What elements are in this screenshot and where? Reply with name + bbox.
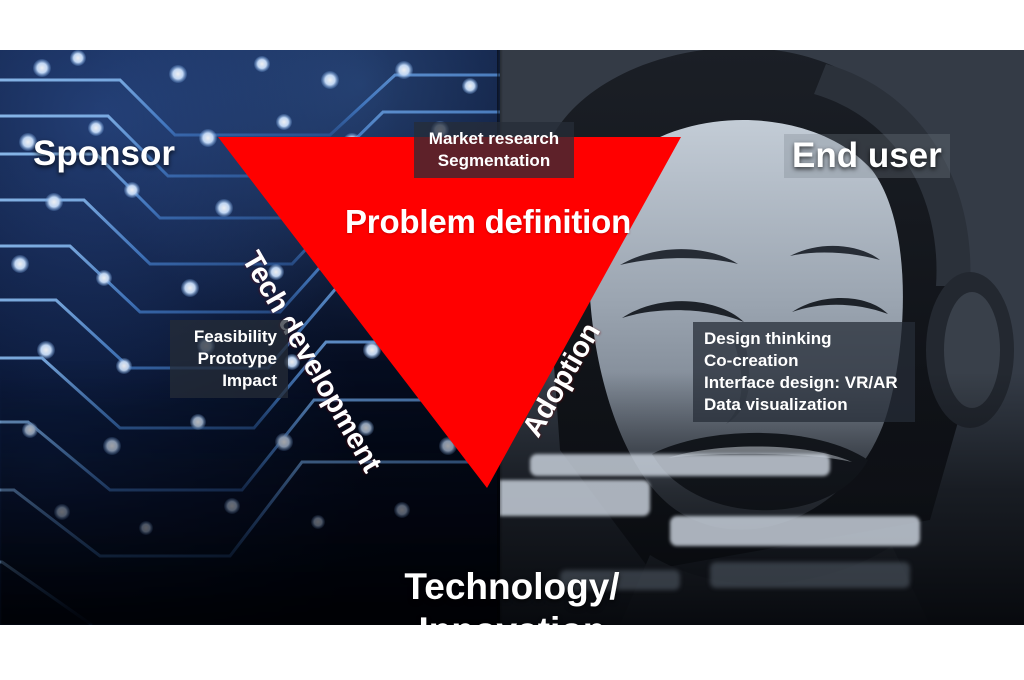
note-enduser-line-1: Design thinking xyxy=(704,328,904,350)
letterbox-top xyxy=(0,0,1024,50)
technology-line-1: Technology/ xyxy=(0,565,1024,609)
note-sponsor-line-2: Prototype xyxy=(181,348,277,370)
note-sponsor-side: Feasibility Prototype Impact xyxy=(170,320,288,398)
device-highlight-3 xyxy=(670,516,920,546)
note-enduser-line-4: Data visualization xyxy=(704,394,904,416)
technology-line-2: Innovation xyxy=(0,609,1024,625)
note-market-line-1: Market research xyxy=(425,128,563,150)
note-end-user-side: Design thinking Co-creation Interface de… xyxy=(693,322,915,422)
note-enduser-line-3: Interface design: VR/AR xyxy=(704,372,904,394)
note-market-line-2: Segmentation xyxy=(425,150,563,172)
corner-title-technology-innovation: Technology/ Innovation xyxy=(0,565,1024,625)
note-sponsor-line-3: Impact xyxy=(181,370,277,392)
letterbox-bottom xyxy=(0,625,1024,680)
corner-title-end-user: End user xyxy=(784,134,950,178)
device-highlight-1 xyxy=(500,480,650,516)
device-highlight-2 xyxy=(530,454,830,476)
note-enduser-line-2: Co-creation xyxy=(704,350,904,372)
slide-canvas: Problem definition Tech development Adop… xyxy=(0,0,1024,680)
corner-title-sponsor: Sponsor xyxy=(33,134,175,174)
note-market-research: Market research Segmentation xyxy=(414,122,574,178)
photo-band: Problem definition Tech development Adop… xyxy=(0,50,1024,625)
note-sponsor-line-1: Feasibility xyxy=(181,326,277,348)
